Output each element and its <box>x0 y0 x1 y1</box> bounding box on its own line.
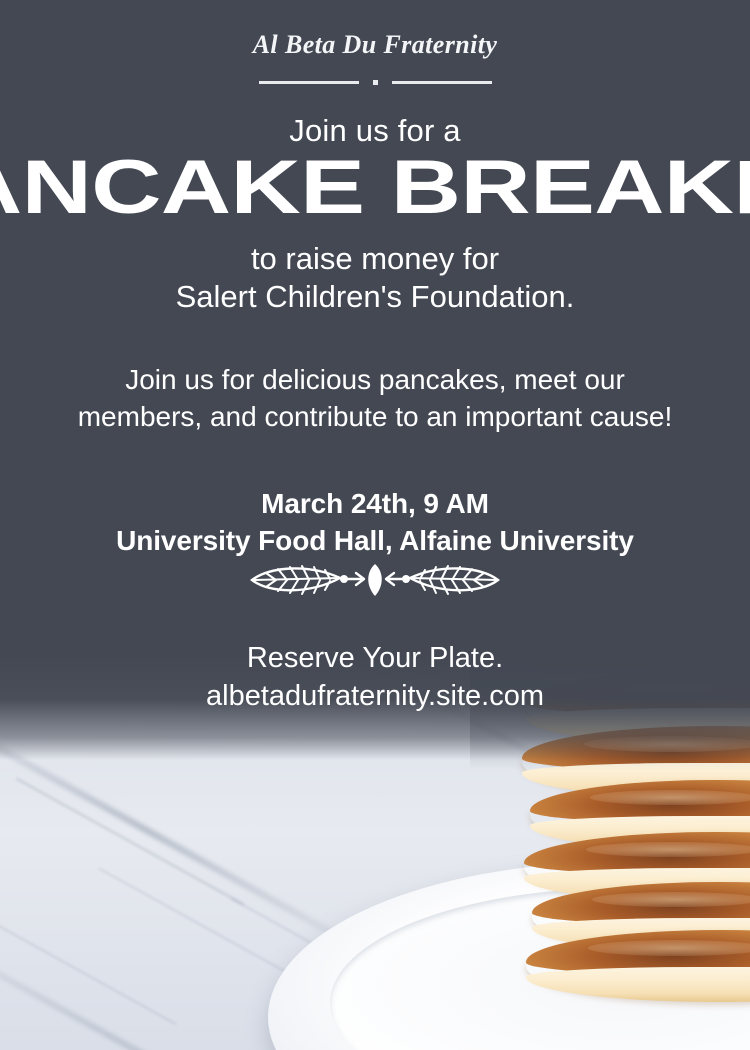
laurel-arrow-left-icon <box>252 566 364 594</box>
event-details: March 24th, 9 AM University Food Hall, A… <box>0 485 750 559</box>
pancake-breakfast-poster: Al Beta Du Fraternity Join us for a PANC… <box>0 0 750 1050</box>
divider <box>0 80 750 85</box>
ornament-divider <box>0 558 750 602</box>
call-to-action: Reserve Your Plate. albetadufraternity.s… <box>0 640 750 715</box>
poster-content: Al Beta Du Fraternity Join us for a PANC… <box>0 0 750 1050</box>
kicker-text: Join us for a <box>0 113 750 149</box>
laurel-arrow-right-icon <box>386 566 498 594</box>
page-title: PANCAKE BREAKFAST <box>0 152 750 225</box>
cta-url-link[interactable]: albetadufraternity.site.com <box>0 678 750 716</box>
beneficiary-line-2: Salert Children's Foundation. <box>0 278 750 316</box>
event-date: March 24th, 9 AM <box>0 485 750 522</box>
divider-rule-right <box>392 81 492 84</box>
event-venue: University Food Hall, Alfaine University <box>0 522 750 559</box>
body-copy: Join us for delicious pancakes, meet our… <box>42 362 708 436</box>
cta-label: Reserve Your Plate. <box>0 640 750 678</box>
beneficiary-text: to raise money for Salert Children's Fou… <box>0 240 750 317</box>
beneficiary-line-1: to raise money for <box>0 240 750 278</box>
divider-rule-left <box>259 81 359 84</box>
square-dot-icon <box>373 80 378 85</box>
body-line-1: Join us for delicious pancakes, meet our <box>42 362 708 399</box>
leaf-diamond-icon <box>368 564 382 596</box>
body-line-2: members, and contribute to an important … <box>42 399 708 436</box>
fraternity-name: Al Beta Du Fraternity <box>0 30 750 60</box>
